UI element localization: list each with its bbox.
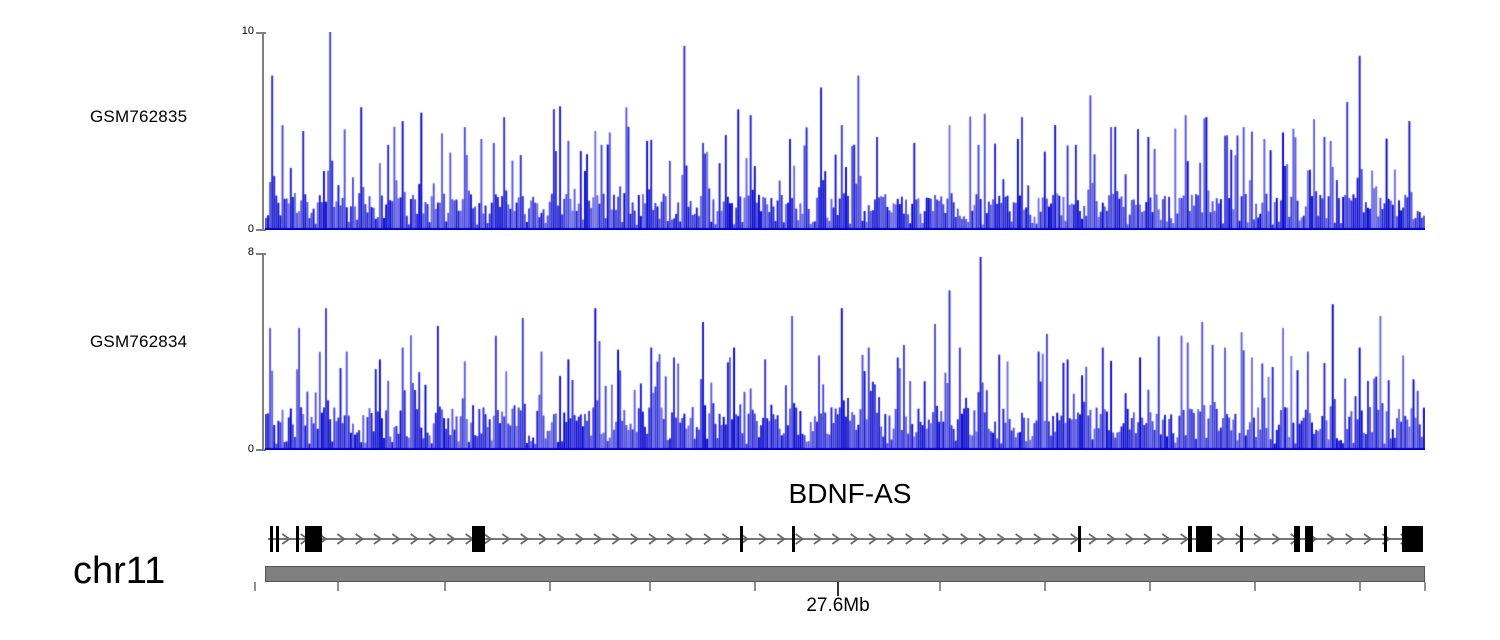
track2-axis-min-label: 0 xyxy=(222,443,254,455)
gene-exon-block xyxy=(472,526,485,552)
gene-exon-block xyxy=(1294,526,1300,552)
gene-exon-block xyxy=(296,526,299,552)
track-label-gsm762834: GSM762834 xyxy=(90,332,187,352)
coverage-track-gsm762834 xyxy=(265,253,1425,450)
ruler-position-label: 27.6Mb xyxy=(758,595,918,617)
track2-axis-line xyxy=(262,253,264,451)
gene-exon-block xyxy=(1402,526,1423,552)
track2-axis-max-label: 8 xyxy=(222,246,254,258)
gene-exon-block xyxy=(270,526,273,552)
chromosome-ideogram-bar[interactable] xyxy=(265,566,1425,582)
gene-exon-block xyxy=(1305,526,1313,552)
gene-exon-block xyxy=(276,526,279,552)
gene-exon-block xyxy=(1078,526,1081,552)
track1-axis-max-label: 10 xyxy=(222,25,254,37)
gene-exon-block xyxy=(1384,526,1387,552)
gene-exon-block xyxy=(1196,526,1212,552)
gene-name-label: BDNF-AS xyxy=(690,478,1010,510)
chromosome-name-label: chr11 xyxy=(73,550,165,593)
gene-exon-block xyxy=(1188,526,1192,552)
track1-axis-min-label: 0 xyxy=(222,223,254,235)
gene-exon-block xyxy=(1240,526,1243,552)
track1-axis-line xyxy=(262,32,264,231)
coverage-track-gsm762835 xyxy=(265,32,1425,230)
gene-exon-block xyxy=(792,526,795,552)
gene-model-track[interactable] xyxy=(260,518,1440,560)
gene-exon-block xyxy=(740,526,743,552)
gene-exon-block xyxy=(305,526,322,552)
track-label-gsm762835: GSM762835 xyxy=(90,107,187,127)
